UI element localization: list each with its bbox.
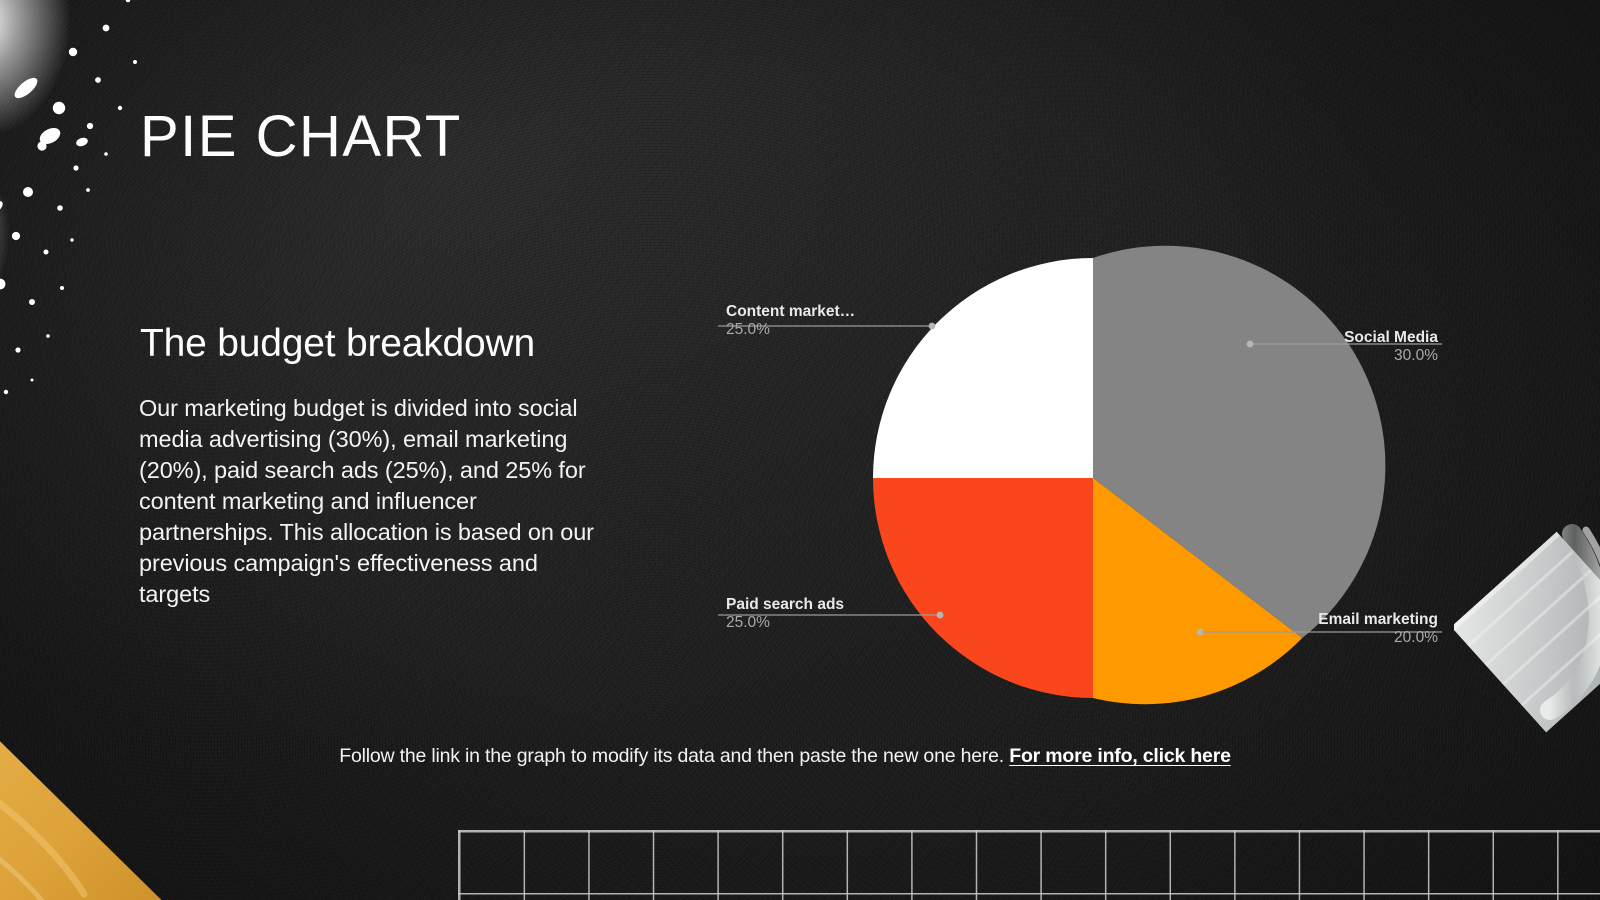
pie-label-value-social-media: 30.0%	[1344, 347, 1438, 365]
page-title: PIE CHART	[140, 108, 462, 166]
pie-label-content-marketing: Content market… 25.0%	[726, 303, 855, 339]
pie-label-value-paid-search-ads: 25.0%	[726, 614, 844, 632]
leader-dot-content-marketing	[929, 323, 936, 330]
pie-label-email-marketing: Email marketing 20.0%	[1318, 611, 1438, 647]
pie-label-name-email-marketing: Email marketing	[1318, 611, 1438, 629]
footer-caption-link[interactable]: For more info, click here	[1009, 745, 1230, 767]
footer-caption-text: Follow the link in the graph to modify i…	[339, 745, 1009, 767]
pie-slice-content-marketing	[873, 258, 1093, 478]
pie-label-value-content-marketing: 25.0%	[726, 321, 855, 339]
pie-label-name-paid-search-ads: Paid search ads	[726, 596, 844, 614]
section-heading: The budget breakdown	[140, 322, 535, 366]
pie-label-social-media: Social Media 30.0%	[1344, 329, 1438, 365]
pie-label-name-social-media: Social Media	[1344, 329, 1438, 347]
leader-dot-paid-search-ads	[937, 612, 944, 619]
leader-dot-email-marketing	[1197, 629, 1204, 636]
leader-dot-social-media	[1247, 341, 1254, 348]
pie-label-paid-search-ads: Paid search ads 25.0%	[726, 596, 844, 632]
body-paragraph: Our marketing budget is divided into soc…	[139, 393, 607, 610]
pie-label-value-email-marketing: 20.0%	[1318, 629, 1438, 647]
slide-pie-chart: PIE CHART The budget breakdown Our marke…	[0, 0, 1600, 900]
footer-caption: Follow the link in the graph to modify i…	[0, 745, 1570, 768]
pie-chart[interactable]: Content market… 25.0% Social Media 30.0%…	[700, 240, 1460, 710]
pie-label-name-content-marketing: Content market…	[726, 303, 855, 321]
pie-slice-paid-search-ads	[873, 478, 1093, 698]
